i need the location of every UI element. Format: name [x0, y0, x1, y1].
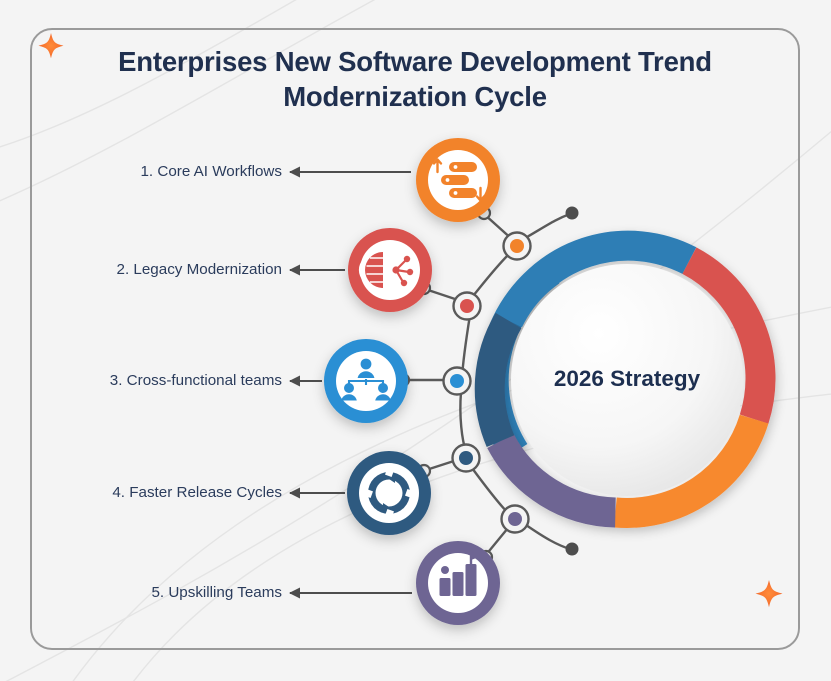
connector-endpoint-top [566, 207, 579, 220]
hub-node-2-dot [460, 299, 474, 313]
sparkle-icon-top-left [39, 33, 64, 58]
label-arrow-1 [289, 167, 411, 178]
donut-center-label: 2026 Strategy [496, 366, 758, 392]
step-label-4: 4. Faster Release Cycles [112, 484, 282, 501]
sidebar-item-cross-functional-teams[interactable]: 3. Cross-functional teams [20, 372, 282, 389]
hub-node-1-dot [510, 239, 524, 253]
hub-node-5[interactable] [502, 506, 529, 533]
page-title: Enterprises New Software Development Tre… [90, 44, 740, 114]
hub-node-5-dot [508, 512, 522, 526]
hub-node-3[interactable] [444, 368, 471, 395]
sidebar-item-faster-release-cycles[interactable]: 4. Faster Release Cycles [20, 484, 282, 501]
step-label-5: 5. Upskilling Teams [151, 584, 282, 601]
hub-node-1[interactable] [504, 233, 531, 260]
page-title-line-2: Modernization Cycle [90, 79, 740, 114]
step-icon-faster-release-cycles[interactable] [347, 451, 431, 535]
step-label-1: 1. Core AI Workflows [140, 163, 282, 180]
step-icon-legacy-modernization[interactable] [348, 228, 432, 312]
label-arrow-3 [289, 376, 322, 387]
hub-node-4-dot [459, 451, 473, 465]
connector-line-n4-n5 [472, 468, 509, 514]
sidebar-item-legacy-modernization[interactable]: 2. Legacy Modernization [20, 261, 282, 278]
label-arrow-4 [289, 488, 345, 499]
connector-line-endpoint-top [527, 214, 570, 237]
hub-node-2[interactable] [454, 293, 481, 320]
sparkle-icon-bottom-right [756, 580, 783, 607]
connector-line-endpoint-bottom [526, 525, 570, 549]
page-title-line-1: Enterprises New Software Development Tre… [90, 44, 740, 79]
hub-node-3-dot [450, 374, 464, 388]
step-label-2: 2. Legacy Modernization [117, 261, 282, 278]
connector-endpoint-bottom [566, 543, 579, 556]
connector-line-n1-n2 [473, 254, 509, 296]
label-arrow-5 [289, 588, 412, 599]
label-arrow-2 [289, 265, 345, 276]
sidebar-item-upskilling-teams[interactable]: 5. Upskilling Teams [20, 584, 282, 601]
connector-line-n3-n4 [460, 392, 466, 452]
sidebar-item-core-ai-workflows[interactable]: 1. Core AI Workflows [20, 163, 282, 180]
step-label-3: 3. Cross-functional teams [110, 372, 282, 389]
hub-node-4[interactable] [453, 445, 480, 472]
